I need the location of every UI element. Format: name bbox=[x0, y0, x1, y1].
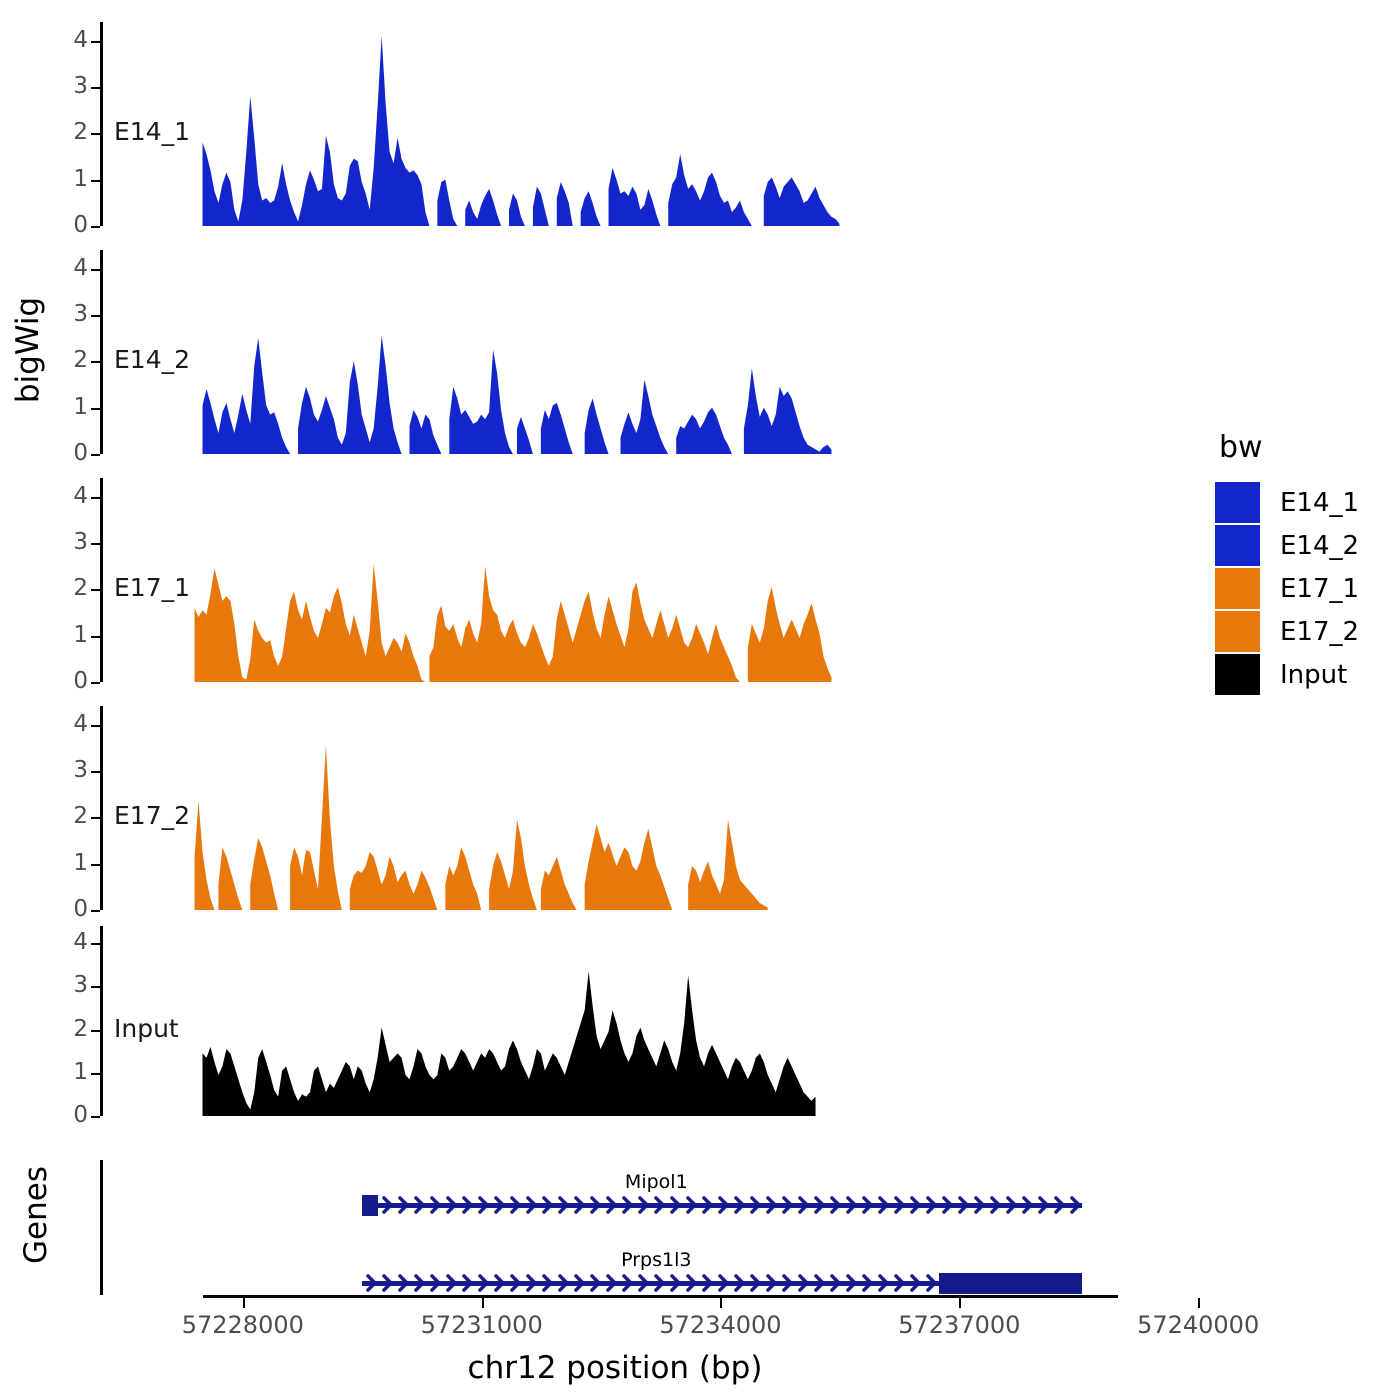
legend-label: E14_1 bbox=[1280, 488, 1359, 518]
x-axis-tick bbox=[959, 1298, 961, 1308]
legend-swatch bbox=[1215, 525, 1260, 566]
track-plot-area bbox=[103, 22, 1130, 226]
y-axis-tick-label: 1 bbox=[28, 1059, 88, 1085]
y-axis-tick-label: 3 bbox=[28, 529, 88, 555]
y-axis-tick-label: 3 bbox=[28, 757, 88, 783]
y-axis-tick-label: 3 bbox=[28, 73, 88, 99]
y-axis-tick bbox=[91, 454, 100, 456]
y-axis-tick bbox=[91, 864, 100, 866]
y-axis-tick-label: 2 bbox=[28, 1016, 88, 1042]
x-axis-tick bbox=[243, 1298, 245, 1308]
y-axis-tick-label: 2 bbox=[28, 347, 88, 373]
legend-label: Input bbox=[1280, 660, 1347, 690]
y-axis-tick bbox=[91, 543, 100, 545]
legend-label: E17_2 bbox=[1280, 617, 1359, 647]
x-axis-tick bbox=[1198, 1298, 1200, 1308]
legend-swatch bbox=[1215, 568, 1260, 609]
y-axis-tick bbox=[91, 180, 100, 182]
y-axis-tick bbox=[91, 361, 100, 363]
y-axis-tick bbox=[91, 269, 100, 271]
y-axis-tick-label: 4 bbox=[28, 483, 88, 509]
x-axis-tick-label: 57231000 bbox=[421, 1311, 543, 1339]
y-axis-tick-label: 2 bbox=[28, 803, 88, 829]
y-axis-tick-label: 0 bbox=[28, 212, 88, 238]
y-axis-tick bbox=[91, 1030, 100, 1032]
y-axis-tick bbox=[91, 771, 100, 773]
y-axis-tick bbox=[91, 87, 100, 89]
y-axis-tick bbox=[91, 682, 100, 684]
y-axis-tick-label: 0 bbox=[28, 896, 88, 922]
legend-item-input[interactable]: Input bbox=[1215, 653, 1390, 696]
gene-exon-block bbox=[362, 1195, 378, 1216]
x-axis-tick bbox=[720, 1298, 722, 1308]
x-axis-tick-label: 57228000 bbox=[182, 1311, 304, 1339]
y-axis-tick bbox=[91, 589, 100, 591]
y-axis-tick bbox=[91, 943, 100, 945]
legend-item-e17_1[interactable]: E17_1 bbox=[1215, 567, 1390, 610]
x-axis-tick-label: 57237000 bbox=[898, 1311, 1020, 1339]
track-plot-area bbox=[103, 250, 1130, 454]
y-axis-tick-label: 0 bbox=[28, 668, 88, 694]
legend-swatch bbox=[1215, 482, 1260, 523]
strand-arrow-icon bbox=[362, 1190, 1082, 1220]
x-axis-title: chr12 position (bp) bbox=[100, 1350, 1130, 1386]
legend-swatch bbox=[1215, 611, 1260, 652]
y-axis-tick bbox=[91, 1116, 100, 1118]
x-axis-tick-label: 57240000 bbox=[1137, 1311, 1259, 1339]
track-panel-e14_1: 01234E14_1 bbox=[100, 22, 1130, 226]
legend-label: E17_1 bbox=[1280, 574, 1359, 604]
y-axis-tick-label: 4 bbox=[28, 27, 88, 53]
y-axis-tick-label: 2 bbox=[28, 575, 88, 601]
legend-label: E14_2 bbox=[1280, 531, 1359, 561]
y-axis-tick-label: 3 bbox=[28, 972, 88, 998]
y-axis-tick bbox=[91, 986, 100, 988]
y-axis-tick-label: 3 bbox=[28, 301, 88, 327]
y-axis-tick bbox=[91, 725, 100, 727]
y-axis-tick-label: 0 bbox=[28, 1102, 88, 1128]
y-axis-tick-label: 4 bbox=[28, 255, 88, 281]
legend: bw E14_1E14_2E17_1E17_2Input bbox=[1215, 430, 1390, 696]
legend-item-e14_1[interactable]: E14_1 bbox=[1215, 481, 1390, 524]
y-axis-tick-label: 2 bbox=[28, 119, 88, 145]
legend-item-e14_2[interactable]: E14_2 bbox=[1215, 524, 1390, 567]
track-panel-e17_1: 01234E17_1 bbox=[100, 478, 1130, 682]
gene-name-label: Prps1l3 bbox=[621, 1249, 691, 1271]
legend-items: E14_1E14_2E17_1E17_2Input bbox=[1215, 481, 1390, 696]
track-plot-area bbox=[103, 478, 1130, 682]
y-axis-tick-label: 1 bbox=[28, 850, 88, 876]
legend-item-e17_2[interactable]: E17_2 bbox=[1215, 610, 1390, 653]
y-axis-tick bbox=[91, 133, 100, 135]
y-axis-tick bbox=[91, 817, 100, 819]
track-panel-e14_2: 01234E14_2 bbox=[100, 250, 1130, 454]
y-axis-tick-label: 1 bbox=[28, 394, 88, 420]
x-axis-line bbox=[203, 1295, 1118, 1298]
track-panel-e17_2: 01234E17_2 bbox=[100, 706, 1130, 910]
y-axis-tick bbox=[91, 315, 100, 317]
gene-prps1l3[interactable]: Prps1l3 bbox=[100, 1268, 1130, 1298]
y-axis-tick bbox=[91, 636, 100, 638]
x-axis: 5722800057231000572340005723700057240000… bbox=[100, 1295, 1130, 1385]
y-axis-tick bbox=[91, 1073, 100, 1075]
gene-name-label: Mipol1 bbox=[625, 1171, 688, 1193]
track-panel-input: 01234Input bbox=[100, 926, 1130, 1116]
x-axis-tick-label: 57234000 bbox=[659, 1311, 781, 1339]
y-axis-tick bbox=[91, 226, 100, 228]
y-axis-tick-label: 1 bbox=[28, 622, 88, 648]
legend-swatch bbox=[1215, 654, 1260, 695]
y-axis-tick bbox=[91, 41, 100, 43]
y-axis-tick-label: 1 bbox=[28, 166, 88, 192]
x-axis-tick bbox=[482, 1298, 484, 1308]
gene-track-panel: Mipol1Prps1l3 bbox=[100, 1160, 1130, 1295]
y-axis-tick bbox=[91, 910, 100, 912]
y-axis-tick-label: 4 bbox=[28, 929, 88, 955]
gene-exon-block bbox=[939, 1273, 1082, 1294]
legend-title: bw bbox=[1215, 430, 1390, 465]
track-plot-area bbox=[103, 706, 1130, 910]
y-axis-tick-label: 0 bbox=[28, 440, 88, 466]
genes-axis-title: Genes bbox=[18, 1145, 54, 1285]
y-axis-tick-label: 4 bbox=[28, 711, 88, 737]
y-axis-tick bbox=[91, 497, 100, 499]
gene-mipol1[interactable]: Mipol1 bbox=[100, 1190, 1130, 1220]
track-plot-area bbox=[103, 926, 1130, 1116]
y-axis-tick bbox=[91, 408, 100, 410]
